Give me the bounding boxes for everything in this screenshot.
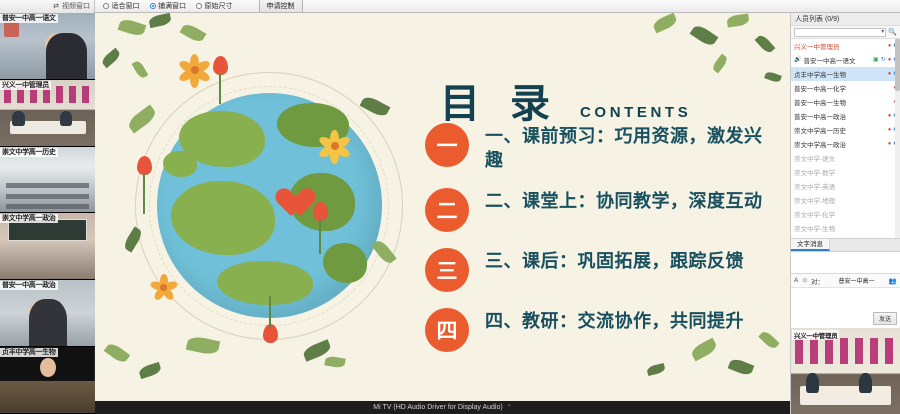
participant-name: 崇文中学-地理	[794, 195, 897, 205]
video-tile-0[interactable]: 普安一中高一语文	[0, 13, 95, 80]
video-tile-3[interactable]: 崇文中学高一政治	[0, 213, 95, 280]
sync-icon[interactable]: ↻	[881, 57, 886, 63]
scene-banner	[795, 338, 895, 364]
list-item[interactable]: 崇文中学高一历史 ● ■	[791, 123, 900, 137]
document-icon[interactable]: ▣	[873, 57, 879, 63]
flower-decor	[153, 274, 175, 296]
toc-number: 一	[425, 123, 469, 167]
radio-fill-window-label: 铺满窗口	[158, 1, 186, 11]
slide-toc-list: 一 一、课前预习：巧用资源，激发兴趣 二 二、课堂上：协同教学，深度互动 三 三…	[425, 123, 770, 368]
radio-fit-window-label: 适合窗口	[112, 1, 140, 11]
scene-desk	[6, 183, 90, 188]
slide-title-en: CONTENTS	[580, 104, 691, 121]
flower-decor	[181, 54, 207, 80]
list-item[interactable]: 崇文中学-生物	[791, 221, 900, 235]
video-tile-label: 崇文中学高一历史	[0, 148, 58, 157]
tulip-decor	[137, 156, 152, 175]
chat-input[interactable]: 发送	[791, 288, 900, 328]
list-item[interactable]: 普安一中高一生物 ●	[791, 95, 900, 109]
radio-fit-window[interactable]: 适合窗口	[103, 1, 140, 11]
toc-label: 二、课堂上：协同教学，深度互动	[485, 188, 763, 213]
mic-icon[interactable]: ●	[888, 127, 892, 133]
list-item[interactable]: 贞丰中学-语文	[791, 235, 900, 239]
video-tile-label: 崇文中学高一政治	[0, 214, 58, 223]
flower-decor	[321, 130, 347, 156]
participant-name: 崇文中学高一政治	[794, 139, 886, 149]
toc-label: 四、教研：交流协作，共同提升	[485, 308, 744, 333]
list-item[interactable]: 崇文中学高一政治 ● ■	[791, 137, 900, 151]
toc-item: 四 四、教研：交流协作，共同提升	[425, 308, 770, 352]
scene-person	[12, 111, 24, 125]
list-item[interactable]: 贞丰中学高一生物 ● ■	[791, 67, 900, 81]
participant-name: 贞丰中学-语文	[794, 237, 897, 239]
participant-name: 崇文中学-语文	[794, 153, 897, 163]
toc-number: 三	[425, 248, 469, 292]
video-tile-2[interactable]: 崇文中学高一历史	[0, 147, 95, 214]
view-options-group: 适合窗口 铺满窗口 原始尺寸 申请控制	[95, 0, 303, 13]
toc-label: 一、课前预习：巧用资源，激发兴趣	[485, 123, 770, 172]
slide-title-row: 目 录 CONTENTS	[440, 71, 691, 129]
participant-name: 普安一中高一语文	[803, 55, 871, 65]
mic-icon[interactable]: ●	[888, 71, 892, 77]
toc-item: 三 三、课后：巩固拓展，跟踪反馈	[425, 248, 770, 292]
people-icon[interactable]: 👥	[889, 277, 897, 285]
participant-name: 普安一中高一生物	[794, 97, 891, 107]
mic-icon[interactable]: ●	[888, 113, 892, 119]
video-tile-label: 普安一中高一政治	[0, 281, 58, 290]
send-button[interactable]: 发送	[873, 312, 897, 325]
participant-video-strip: 普安一中高一语文 兴义一中管理员 崇文中学高一历史 崇文中学高一政治	[0, 13, 95, 414]
shared-slide[interactable]: 目 录 CONTENTS 一 一、课前预习：巧用资源，激发兴趣 二 二、课堂上：…	[95, 13, 790, 401]
video-tile-4[interactable]: 普安一中高一政治	[0, 280, 95, 347]
participant-name: 崇文中学-数学	[794, 167, 897, 177]
list-item[interactable]: 崇文中学-化学	[791, 207, 900, 221]
participant-name: 崇文中学高一历史	[794, 125, 886, 135]
chat-toolbar: A ☺ 对： 普安一中高一 👥	[791, 274, 900, 288]
participants-search-row: 🔍	[791, 26, 900, 39]
participant-name: 普安一中高一化学	[794, 83, 891, 93]
toc-item: 一 一、课前预习：巧用资源，激发兴趣	[425, 123, 770, 172]
scene-person	[806, 373, 819, 394]
heart-icon	[283, 189, 317, 223]
mic-icon[interactable]: ●	[888, 57, 892, 63]
tab-text-message[interactable]: 文字消息	[791, 238, 830, 251]
participant-name: 崇文中学-化学	[794, 209, 897, 219]
participants-list[interactable]: 兴义一中管理员 ● ■ 🔊 普安一中高一语文 ▣ ↻ ● ■ 贞丰中学高一生物 …	[791, 39, 900, 239]
radio-fit-window-dot	[103, 3, 109, 9]
chevron-up-icon[interactable]: ⌃	[507, 404, 512, 411]
chat-to-label: 对：	[811, 276, 824, 286]
status-bar: Mi TV (HD Audio Driver for Display Audio…	[95, 401, 790, 414]
participant-name: 崇文中学-英语	[794, 181, 897, 191]
earth-globe	[157, 93, 382, 318]
self-preview-video[interactable]: 兴义一中管理员	[791, 328, 900, 414]
search-icon[interactable]: 🔍	[888, 28, 897, 36]
list-item[interactable]: 普安一中高一政治 ● ■	[791, 109, 900, 123]
toc-label: 三、课后：巩固拓展，跟踪反馈	[485, 248, 744, 273]
radio-fill-window-dot	[150, 3, 156, 9]
scene-person	[40, 358, 56, 378]
font-icon[interactable]: A	[794, 277, 798, 284]
video-tile-1[interactable]: 兴义一中管理员	[0, 80, 95, 147]
tulip-decor	[313, 202, 328, 221]
participant-name: 普安一中高一政治	[794, 111, 886, 121]
scene-desk	[6, 194, 90, 199]
right-panel: 人员列表 (0/9) 🔍 兴义一中管理员 ● ■ 🔊 普安一中高一语文 ▣ ↻ …	[790, 13, 900, 414]
participant-name: 崇文中学-生物	[794, 223, 897, 233]
mic-icon[interactable]: ●	[888, 141, 892, 147]
radio-original-size[interactable]: 原始尺寸	[196, 1, 233, 11]
list-item[interactable]: 崇文中学-地理	[791, 193, 900, 207]
toc-number: 二	[425, 188, 469, 232]
list-item[interactable]: 🔊 普安一中高一语文 ▣ ↻ ● ■	[791, 53, 900, 67]
request-control-button[interactable]: 申请控制	[259, 0, 303, 13]
earth-illustration	[117, 38, 417, 368]
tulip-decor	[213, 56, 228, 75]
self-preview-label: 兴义一中管理员	[792, 330, 839, 340]
toc-number: 四	[425, 308, 469, 352]
list-item[interactable]: 崇文中学-数学	[791, 165, 900, 179]
toolbar-left-group: ⇄ 视频窗口	[0, 0, 95, 13]
view-mode-label[interactable]: 视频窗口	[62, 1, 90, 11]
scene-person	[60, 111, 72, 125]
radio-original-size-dot	[196, 3, 202, 9]
chat-tabbar: 文字消息	[791, 239, 900, 252]
video-tile-label: 普安一中高一语文	[0, 14, 58, 23]
video-tile-5[interactable]: 贞丰中学高一生物	[0, 347, 95, 414]
video-tile-label: 兴义一中管理员	[0, 81, 51, 90]
scene-desk	[6, 204, 90, 209]
radio-fill-window[interactable]: 铺满窗口	[150, 1, 187, 11]
scene-desk	[0, 381, 95, 413]
video-tile-label: 贞丰中学高一生物	[0, 348, 58, 357]
conference-app: ⇄ 视频窗口 适合窗口 铺满窗口 原始尺寸 申请控制 普安一中高一语文	[0, 0, 900, 414]
participant-name: 兴义一中管理员	[794, 41, 886, 51]
audio-device-label[interactable]: Mi TV (HD Audio Driver for Display Audio…	[373, 404, 502, 411]
list-item[interactable]: 崇文中学-英语	[791, 179, 900, 193]
restore-icon[interactable]: ⇄	[53, 2, 59, 10]
video-scene	[791, 328, 900, 414]
top-toolbar: ⇄ 视频窗口 适合窗口 铺满窗口 原始尺寸 申请控制	[0, 0, 900, 13]
scene-person	[859, 373, 872, 394]
list-item[interactable]: 崇文中学-语文	[791, 151, 900, 165]
participants-scrollbar[interactable]	[895, 39, 900, 239]
chat-message-log	[791, 252, 900, 274]
participants-panel-title: 人员列表 (0/9)	[791, 13, 900, 26]
mic-icon[interactable]: ●	[888, 43, 892, 49]
emoji-icon[interactable]: ☺	[801, 277, 808, 284]
radio-original-size-label: 原始尺寸	[205, 1, 233, 11]
chat-target-select[interactable]: 普安一中高一	[827, 276, 886, 285]
slide-title-cn: 目 录	[440, 71, 560, 129]
speaker-icon: 🔊	[794, 57, 801, 63]
toc-item: 二 二、课堂上：协同教学，深度互动	[425, 188, 770, 232]
participant-name: 贞丰中学高一生物	[794, 69, 886, 79]
list-item[interactable]: 兴义一中管理员 ● ■	[791, 39, 900, 53]
list-item[interactable]: 普安一中高一化学 ●	[791, 81, 900, 95]
search-input[interactable]	[794, 28, 886, 37]
